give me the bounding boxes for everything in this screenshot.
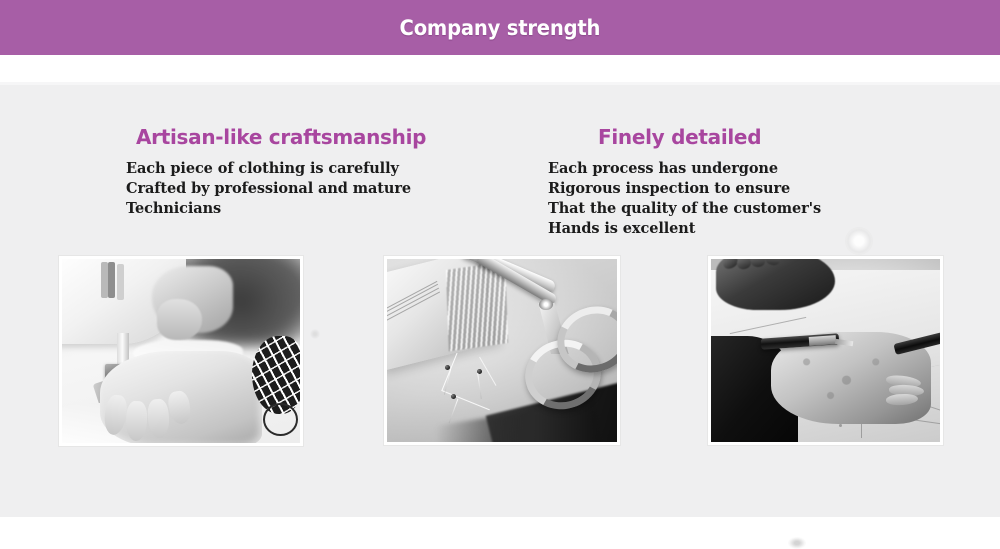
pattern-marking-photo xyxy=(707,255,944,446)
sewing-machine-photo-image xyxy=(62,259,300,443)
body-line: Each process has undergone xyxy=(548,159,948,179)
pin-head xyxy=(445,365,450,370)
watermark-artifact xyxy=(310,329,320,339)
watermark-artifact xyxy=(788,537,806,549)
patterned-cuff xyxy=(252,336,300,413)
header-divider xyxy=(0,55,1000,82)
finger xyxy=(751,259,766,268)
body-line: That the quality of the customer's xyxy=(548,199,948,219)
pleated-fabric xyxy=(446,262,508,351)
page-title: Company strength xyxy=(400,16,601,40)
scissor-pivot-screw xyxy=(539,299,553,310)
body-line: Hands is excellent xyxy=(548,219,948,239)
column-body-craftsmanship: Each piece of clothing is carefully Craf… xyxy=(126,159,526,219)
finger xyxy=(765,259,781,266)
sewing-machine-photo xyxy=(58,255,304,447)
pattern-marking-photo-image xyxy=(711,259,940,442)
column-heading-finely-detailed: Finely detailed xyxy=(548,125,948,149)
scissors-pins-photo xyxy=(383,255,621,446)
page-header-banner: Company strength xyxy=(0,0,1000,55)
scissors-pins-photo-image xyxy=(387,259,617,442)
machine-detail xyxy=(108,262,115,297)
content-panel: Artisan-like craftsmanship Each piece of… xyxy=(0,82,1000,517)
column-body-finely-detailed: Each process has undergone Rigorous insp… xyxy=(548,159,948,239)
body-line: Rigorous inspection to ensure xyxy=(548,179,948,199)
body-line: Technicians xyxy=(126,199,526,219)
hand-shading xyxy=(780,340,913,413)
upper-fingers xyxy=(157,299,202,339)
column-heading-craftsmanship: Artisan-like craftsmanship xyxy=(126,125,526,149)
body-line: Crafted by professional and mature xyxy=(126,179,526,199)
pen-clip xyxy=(809,335,837,346)
feature-column-craftsmanship: Artisan-like craftsmanship Each piece of… xyxy=(126,125,526,219)
body-line: Each piece of clothing is carefully xyxy=(126,159,526,179)
cuff-edge xyxy=(263,403,298,436)
pattern-notch-dot xyxy=(839,424,842,427)
feature-column-finely-detailed: Finely detailed Each process has undergo… xyxy=(548,125,948,239)
